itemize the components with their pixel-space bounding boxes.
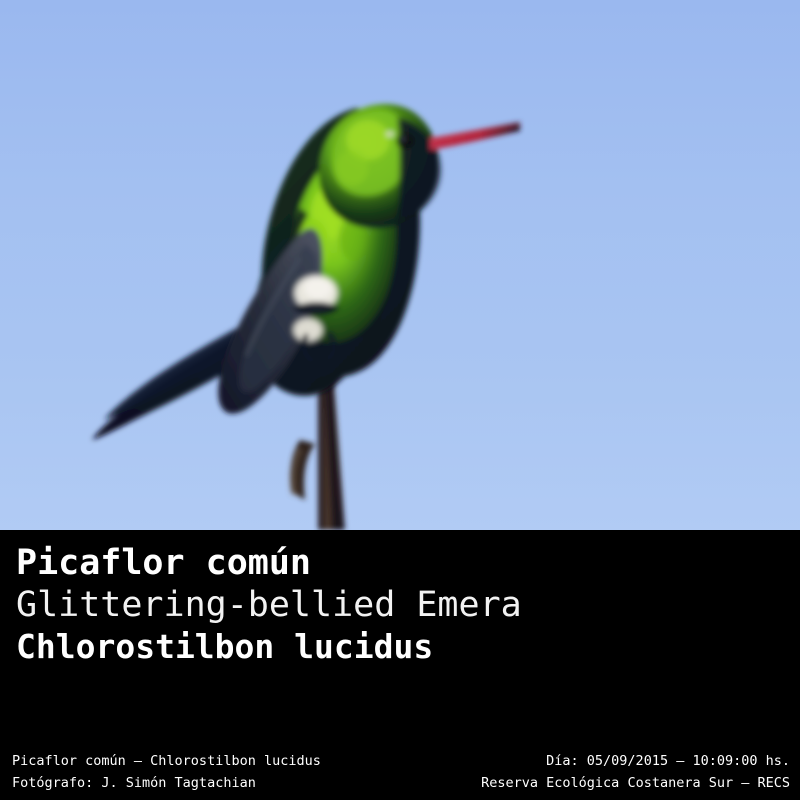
- footer-date-line: Día: 05/09/2015 — 10:09:00 hs.: [481, 750, 790, 772]
- common-name: Picaflor común: [16, 542, 616, 584]
- footer-left: Picaflor común — Chlorostilbon lucidus F…: [12, 750, 321, 794]
- species-photo-card: Picaflor común Glittering-bellied Emera …: [0, 0, 800, 800]
- scientific-name: Chlorostilbon lucidus: [16, 626, 616, 668]
- footer-species-line: Picaflor común — Chlorostilbon lucidus: [12, 750, 321, 772]
- eye: [397, 134, 414, 149]
- metadata-footer: Picaflor común — Chlorostilbon lucidus F…: [0, 742, 800, 800]
- species-title-block: Picaflor común Glittering-bellied Emera …: [16, 542, 616, 668]
- footer-right: Día: 05/09/2015 — 10:09:00 hs. Reserva E…: [481, 750, 790, 794]
- footer-location-line: Reserva Ecológica Costanera Sur — RECS: [481, 772, 790, 794]
- footer-photographer-line: Fotógrafo: J. Simón Tagtachian: [12, 772, 321, 794]
- bird-photograph: [0, 0, 800, 530]
- english-name: Glittering-bellied Emera: [16, 584, 616, 626]
- hummingbird-illustration: [0, 0, 800, 530]
